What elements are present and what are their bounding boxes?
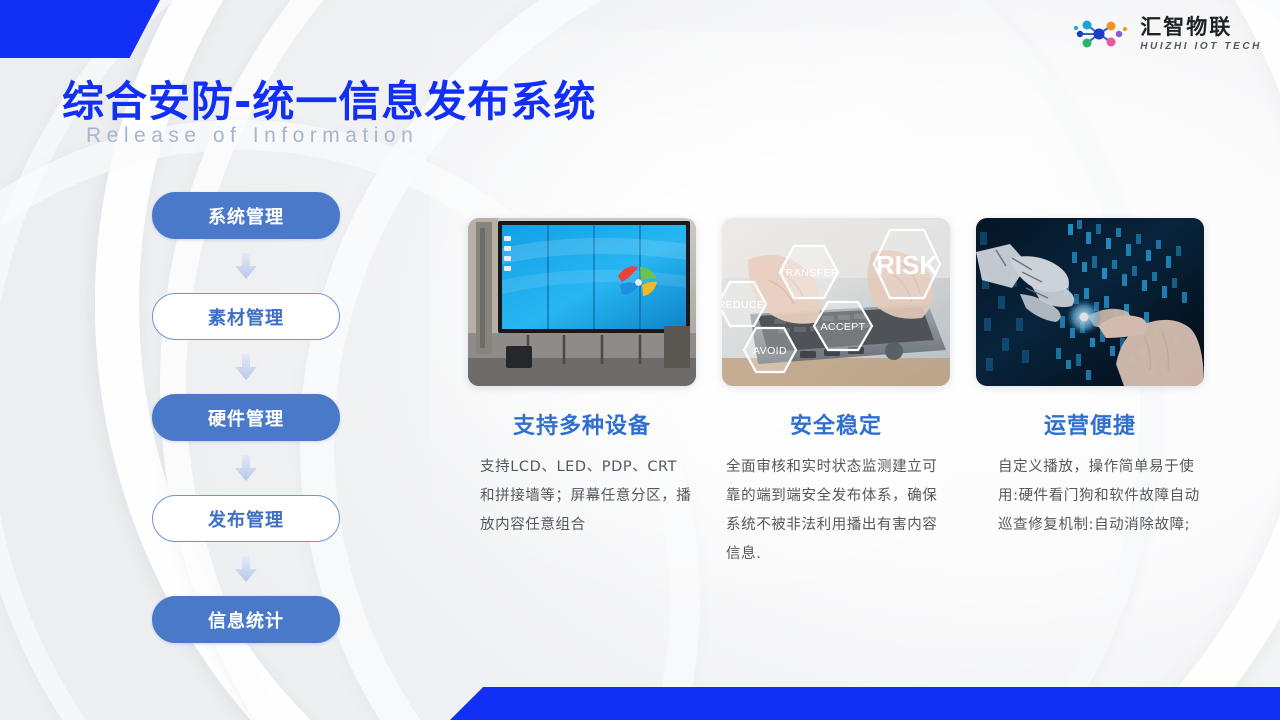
risk-management-photo: RISK TRANSFER REDUCE ACCEPT AVOID	[722, 218, 950, 386]
brand-logo-text: 汇智物联 HUIZHI IOT TECH	[1140, 17, 1262, 52]
feature-card: 支持多种设备 支持LCD、LED、PDP、CRT和拼接墙等；屏幕任意分区，播放内…	[468, 218, 696, 569]
card-description: 自定义播放，操作简单易于使用:硬件看门狗和软件故障自动巡查修复机制:自动消除故障…	[976, 453, 1204, 540]
card-title: 支持多种设备	[468, 408, 696, 440]
lcd-video-wall-photo	[468, 218, 696, 386]
top-left-accent-shape	[0, 0, 160, 58]
svg-text:ACCEPT: ACCEPT	[821, 321, 866, 333]
svg-text:TRANSFER: TRANSFER	[779, 267, 839, 279]
process-flow-list: 系统管理 素材管理 硬件管理	[152, 192, 340, 643]
brand-logo: 汇智物联 HUIZHI IOT TECH	[1073, 14, 1262, 54]
feature-card-list: 支持多种设备 支持LCD、LED、PDP、CRT和拼接墙等；屏幕任意分区，播放内…	[468, 218, 1204, 569]
svg-text:REDUCE: REDUCE	[722, 299, 764, 311]
flow-step-label: 系统管理	[208, 203, 284, 229]
robot-human-hand-photo	[976, 218, 1204, 386]
card-title: 安全稳定	[722, 408, 950, 440]
flow-step-label: 信息统计	[208, 607, 284, 633]
flow-step-material-management[interactable]: 素材管理	[152, 293, 340, 340]
flow-step-release-management[interactable]: 发布管理	[152, 495, 340, 542]
arrow-down-icon	[235, 354, 257, 380]
arrow-down-icon	[235, 253, 257, 279]
bottom-right-accent-bar	[450, 687, 1280, 720]
flow-step-system-management[interactable]: 系统管理	[152, 192, 340, 239]
svg-text:RISK: RISK	[876, 250, 938, 280]
feature-card: RISK TRANSFER REDUCE ACCEPT AVOID 安全稳定 全…	[722, 218, 950, 569]
card-title: 运营便捷	[976, 408, 1204, 440]
molecule-network-icon	[1073, 14, 1131, 54]
flow-step-label: 发布管理	[208, 506, 284, 532]
card-description: 全面审核和实时状态监测建立可靠的端到端安全发布体系，确保系统不被非法利用播出有害…	[722, 453, 950, 569]
feature-card: 运营便捷 自定义播放，操作简单易于使用:硬件看门狗和软件故障自动巡查修复机制:自…	[976, 218, 1204, 569]
flow-step-label: 素材管理	[208, 304, 284, 330]
page-subtitle: Release of Information	[86, 124, 418, 148]
flow-step-info-statistics[interactable]: 信息统计	[152, 596, 340, 643]
brand-name-cn: 汇智物联	[1140, 17, 1262, 38]
page-title: 综合安防-统一信息发布系统	[62, 68, 596, 129]
svg-text:AVOID: AVOID	[753, 345, 787, 357]
flow-step-label: 硬件管理	[208, 405, 284, 431]
arrow-down-icon	[235, 556, 257, 582]
slide-canvas: 汇智物联 HUIZHI IOT TECH 综合安防-统一信息发布系统 Relea…	[0, 0, 1280, 720]
flow-step-hardware-management[interactable]: 硬件管理	[152, 394, 340, 441]
arrow-down-icon	[235, 455, 257, 481]
card-description: 支持LCD、LED、PDP、CRT和拼接墙等；屏幕任意分区，播放内容任意组合	[468, 453, 696, 540]
brand-name-en: HUIZHI IOT TECH	[1140, 42, 1262, 52]
